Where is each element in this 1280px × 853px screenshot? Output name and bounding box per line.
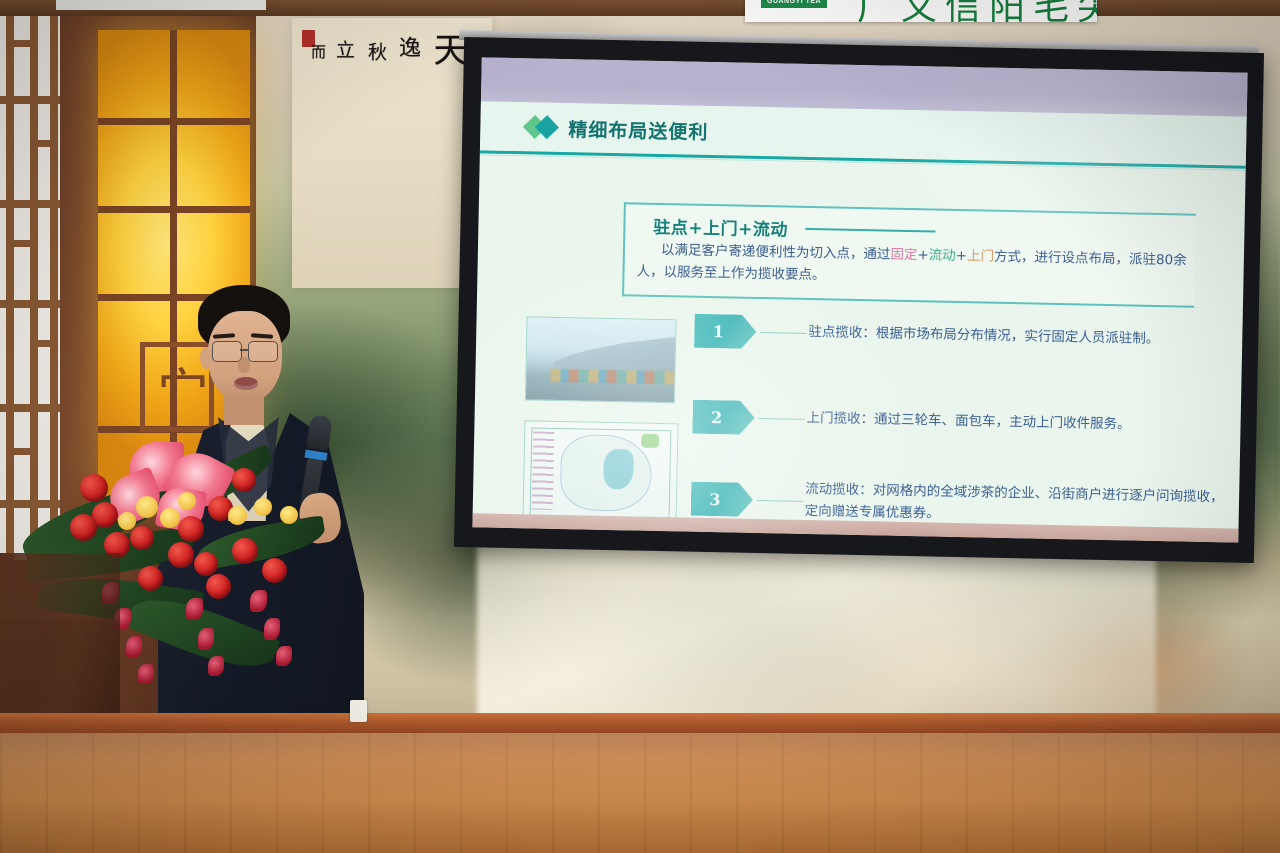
district-map-image: [523, 421, 677, 524]
wooden-floor: [0, 733, 1280, 853]
projection-screen: 精细布局送便利 驻点+上门+流动 以满足客户寄递便利性为切入点，通过固定+流动+…: [454, 37, 1264, 563]
headline-card: 驻点+上门+流动 以满足客户寄递便利性为切入点，通过固定+流动+上门方式，进行设…: [622, 202, 1196, 307]
presentation-slide: 精细布局送便利 驻点+上门+流动 以满足客户寄递便利性为切入点，通过固定+流动+…: [472, 57, 1247, 542]
item-badge-3: 3: [691, 482, 754, 517]
mouth: [234, 377, 258, 390]
headline-seg-4: +: [956, 248, 968, 264]
item-badge-1: 1: [694, 314, 757, 349]
wall-skirting: [0, 713, 1280, 735]
double-diamond-icon: [526, 118, 560, 137]
banner-headline: 广义信阳毛尖: [857, 0, 1097, 22]
item-text-2: 上门揽收：通过三轮车、面包车，主动上门收件服务。: [806, 408, 1226, 438]
calligraphy-char-7: 而: [310, 44, 325, 59]
item-badge-2: 2: [692, 400, 755, 435]
nose: [238, 357, 250, 373]
item-connector-2: [759, 418, 805, 420]
map-legend: [531, 431, 554, 509]
item-connector-1: [760, 332, 806, 334]
headline-seg-3: 流动: [929, 247, 956, 264]
headline-seg-2: +: [917, 247, 929, 263]
slide-title: 精细布局送便利: [568, 115, 709, 145]
wall-socket: [350, 700, 367, 722]
map-region-patch: [641, 434, 660, 448]
screenshot-root: 而 立 秋 逸 天 香 宀: [0, 0, 1280, 853]
item-text-1: 驻点揽收：根据市场布局分布情况，实行固定人员派驻制。: [808, 322, 1228, 352]
street-shops-photo: [525, 316, 677, 403]
calligraphy-char-6: 立: [334, 40, 353, 59]
district-map-photo: [522, 420, 678, 525]
calligraphy-char-3: 逸: [396, 36, 418, 58]
ceiling-white-strip: [56, 0, 266, 10]
venue-banner: GUANGYI TEA 广义信阳毛尖: [745, 0, 1097, 22]
headline-body: 以满足客户寄递便利性为切入点，通过固定+流动+上门方式，进行设点布局，派驻80余…: [636, 239, 1197, 295]
street-shops-image: [526, 317, 676, 402]
item-connector-3: [757, 500, 803, 502]
headline-seg-0: 以满足客户寄递便利性为切入点，通过: [661, 242, 891, 263]
headline-underline: [805, 228, 935, 233]
calligraphy-char-4: 秋: [366, 42, 385, 61]
headline-heading: 驻点+上门+流动: [653, 213, 788, 241]
headline-seg-5: 上门: [967, 248, 994, 265]
headline-seg-1: 固定: [890, 247, 917, 264]
guangyi-tea-logo: GUANGYI TEA: [761, 0, 827, 8]
